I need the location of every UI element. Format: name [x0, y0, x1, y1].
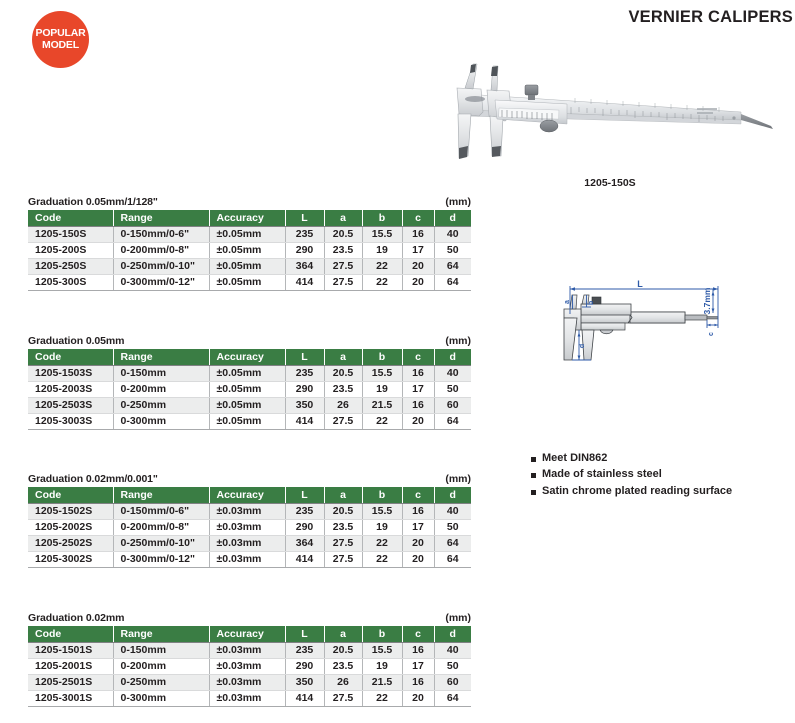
cell-l: 414 [285, 274, 324, 290]
cell-d: 40 [434, 226, 471, 242]
cell-code: 1205-2502S [28, 535, 113, 551]
cell-b: 19 [362, 519, 402, 535]
feature-text: Made of stainless steel [542, 468, 662, 482]
cell-c: 20 [402, 413, 434, 429]
column-header-b: b [362, 487, 402, 503]
cell-accuracy: ±0.03mm [209, 690, 285, 706]
features-list: Meet DIN862 Made of stainless steel Sati… [531, 452, 786, 501]
cell-code: 1205-1502S [28, 503, 113, 519]
cell-b: 21.5 [362, 397, 402, 413]
cell-range: 0-150mm/0-6" [113, 503, 209, 519]
column-header-d: d [434, 349, 471, 365]
table-row: 1205-2503S 0-250mm ±0.05mm 350 26 21.5 1… [28, 397, 471, 413]
column-header-code: Code [28, 210, 113, 226]
cell-b: 22 [362, 258, 402, 274]
unit-label: (mm) [445, 196, 471, 208]
specification-table: Code Range Accuracy L a b c d 1205-150S … [28, 210, 471, 291]
table-row: 1205-3001S 0-300mm ±0.03mm 414 27.5 22 2… [28, 690, 471, 706]
cell-d: 64 [434, 690, 471, 706]
table-row: 1205-1503S 0-150mm ±0.05mm 235 20.5 15.5… [28, 365, 471, 381]
cell-a: 20.5 [324, 226, 362, 242]
column-header-l: L [285, 626, 324, 642]
column-header-a: a [324, 626, 362, 642]
table-header-row: Code Range Accuracy L a b c d [28, 487, 471, 503]
cell-a: 23.5 [324, 658, 362, 674]
column-header-accuracy: Accuracy [209, 487, 285, 503]
cell-a: 26 [324, 397, 362, 413]
cell-c: 16 [402, 674, 434, 690]
cell-b: 19 [362, 658, 402, 674]
spec-table-header-3: Graduation 0.02mm/0.001" (mm) [28, 473, 471, 485]
cell-l: 235 [285, 226, 324, 242]
column-header-accuracy: Accuracy [209, 210, 285, 226]
cell-code: 1205-2501S [28, 674, 113, 690]
column-header-c: c [402, 626, 434, 642]
cell-d: 50 [434, 242, 471, 258]
column-header-b: b [362, 210, 402, 226]
cell-d: 64 [434, 535, 471, 551]
list-item: Satin chrome plated reading surface [531, 485, 786, 499]
cell-a: 27.5 [324, 690, 362, 706]
cell-range: 0-300mm/0-12" [113, 274, 209, 290]
cell-accuracy: ±0.03mm [209, 551, 285, 567]
cell-b: 15.5 [362, 642, 402, 658]
list-item: Meet DIN862 [531, 452, 786, 466]
column-header-a: a [324, 487, 362, 503]
cell-a: 27.5 [324, 258, 362, 274]
specification-table: Code Range Accuracy L a b c d 1205-1502S… [28, 487, 471, 568]
cell-c: 20 [402, 258, 434, 274]
cell-d: 60 [434, 674, 471, 690]
cell-c: 20 [402, 535, 434, 551]
cell-range: 0-200mm [113, 381, 209, 397]
dimension-label-b: b [588, 301, 595, 305]
cell-l: 414 [285, 690, 324, 706]
cell-accuracy: ±0.05mm [209, 381, 285, 397]
table-row: 1205-3002S 0-300mm/0-12" ±0.03mm 414 27.… [28, 551, 471, 567]
table-row: 1205-1501S 0-150mm ±0.03mm 235 20.5 15.5… [28, 642, 471, 658]
badge-line-1: POPULAR [36, 28, 86, 39]
cell-a: 27.5 [324, 413, 362, 429]
cell-code: 1205-2001S [28, 658, 113, 674]
cell-d: 64 [434, 551, 471, 567]
cell-code: 1205-1501S [28, 642, 113, 658]
spec-table-block-2: Graduation 0.05mm (mm) Code Range Accura… [28, 335, 471, 430]
cell-c: 17 [402, 519, 434, 535]
graduation-title: Graduation 0.05mm/1/128" [28, 196, 158, 208]
cell-d: 64 [434, 258, 471, 274]
column-header-a: a [324, 210, 362, 226]
table-row: 1205-250S 0-250mm/0-10" ±0.05mm 364 27.5… [28, 258, 471, 274]
cell-b: 22 [362, 551, 402, 567]
column-header-c: c [402, 349, 434, 365]
dimension-label-a: a [564, 300, 571, 304]
cell-range: 0-200mm/0-8" [113, 519, 209, 535]
cell-accuracy: ±0.03mm [209, 535, 285, 551]
cell-d: 64 [434, 274, 471, 290]
feature-text: Satin chrome plated reading surface [542, 485, 732, 499]
unit-label: (mm) [445, 612, 471, 624]
vernier-caliper-photo-icon [435, 52, 785, 172]
cell-accuracy: ±0.03mm [209, 519, 285, 535]
list-item: Made of stainless steel [531, 468, 786, 482]
cell-range: 0-200mm/0-8" [113, 242, 209, 258]
cell-b: 15.5 [362, 226, 402, 242]
cell-c: 17 [402, 242, 434, 258]
spec-table-block-1: Graduation 0.05mm/1/128" (mm) Code Range… [28, 196, 471, 291]
cell-l: 350 [285, 674, 324, 690]
cell-c: 17 [402, 381, 434, 397]
cell-b: 22 [362, 690, 402, 706]
cell-code: 1205-2002S [28, 519, 113, 535]
cell-c: 16 [402, 365, 434, 381]
column-header-accuracy: Accuracy [209, 626, 285, 642]
cell-d: 40 [434, 503, 471, 519]
specification-table: Code Range Accuracy L a b c d 1205-1501S… [28, 626, 471, 707]
vernier-caliper-dimension-diagram-icon: L a b d 3.7mm c [522, 268, 788, 368]
cell-a: 23.5 [324, 519, 362, 535]
cell-a: 20.5 [324, 503, 362, 519]
cell-c: 16 [402, 503, 434, 519]
dimension-label-L: L [637, 279, 643, 289]
cell-a: 23.5 [324, 381, 362, 397]
cell-accuracy: ±0.05mm [209, 413, 285, 429]
cell-c: 16 [402, 397, 434, 413]
badge-line-2: MODEL [42, 40, 79, 51]
cell-b: 19 [362, 242, 402, 258]
dimension-label-c: c [708, 332, 715, 336]
table-row: 1205-3003S 0-300mm ±0.05mm 414 27.5 22 2… [28, 413, 471, 429]
cell-l: 290 [285, 519, 324, 535]
cell-accuracy: ±0.03mm [209, 674, 285, 690]
cell-d: 64 [434, 413, 471, 429]
column-header-d: d [434, 210, 471, 226]
column-header-b: b [362, 626, 402, 642]
table-row: 1205-200S 0-200mm/0-8" ±0.05mm 290 23.5 … [28, 242, 471, 258]
square-bullet-icon [531, 457, 536, 462]
column-header-code: Code [28, 349, 113, 365]
column-header-a: a [324, 349, 362, 365]
cell-a: 26 [324, 674, 362, 690]
cell-l: 235 [285, 503, 324, 519]
column-header-l: L [285, 349, 324, 365]
feature-text: Meet DIN862 [542, 452, 607, 466]
cell-d: 60 [434, 397, 471, 413]
table-row: 1205-2001S 0-200mm ±0.03mm 290 23.5 19 1… [28, 658, 471, 674]
column-header-b: b [362, 349, 402, 365]
column-header-range: Range [113, 210, 209, 226]
column-header-code: Code [28, 626, 113, 642]
column-header-l: L [285, 487, 324, 503]
cell-accuracy: ±0.05mm [209, 274, 285, 290]
cell-a: 27.5 [324, 535, 362, 551]
cell-range: 0-250mm/0-10" [113, 535, 209, 551]
column-header-accuracy: Accuracy [209, 349, 285, 365]
graduation-title: Graduation 0.02mm/0.001" [28, 473, 158, 485]
table-row: 1205-150S 0-150mm/0-6" ±0.05mm 235 20.5 … [28, 226, 471, 242]
cell-b: 22 [362, 274, 402, 290]
cell-accuracy: ±0.03mm [209, 503, 285, 519]
table-row: 1205-2502S 0-250mm/0-10" ±0.03mm 364 27.… [28, 535, 471, 551]
dimension-label-thickness: 3.7mm [702, 287, 712, 314]
cell-l: 290 [285, 242, 324, 258]
cell-l: 235 [285, 642, 324, 658]
cell-b: 15.5 [362, 503, 402, 519]
cell-accuracy: ±0.05mm [209, 242, 285, 258]
column-header-d: d [434, 626, 471, 642]
cell-range: 0-250mm [113, 674, 209, 690]
cell-c: 17 [402, 658, 434, 674]
dimension-drawing: L a b d 3.7mm c [522, 268, 788, 368]
column-header-code: Code [28, 487, 113, 503]
cell-accuracy: ±0.05mm [209, 397, 285, 413]
column-header-d: d [434, 487, 471, 503]
cell-c: 20 [402, 551, 434, 567]
cell-code: 1205-300S [28, 274, 113, 290]
cell-code: 1205-3002S [28, 551, 113, 567]
cell-code: 1205-1503S [28, 365, 113, 381]
cell-accuracy: ±0.03mm [209, 642, 285, 658]
cell-range: 0-150mm [113, 365, 209, 381]
table-row: 1205-1502S 0-150mm/0-6" ±0.03mm 235 20.5… [28, 503, 471, 519]
cell-code: 1205-2003S [28, 381, 113, 397]
table-header-row: Code Range Accuracy L a b c d [28, 626, 471, 642]
graduation-title: Graduation 0.05mm [28, 335, 124, 347]
cell-a: 20.5 [324, 365, 362, 381]
cell-c: 20 [402, 274, 434, 290]
column-header-c: c [402, 210, 434, 226]
cell-d: 50 [434, 519, 471, 535]
specification-table: Code Range Accuracy L a b c d 1205-1503S… [28, 349, 471, 430]
cell-range: 0-300mm [113, 413, 209, 429]
unit-label: (mm) [445, 473, 471, 485]
cell-code: 1205-200S [28, 242, 113, 258]
column-header-range: Range [113, 626, 209, 642]
column-header-l: L [285, 210, 324, 226]
dimension-label-d: d [579, 344, 586, 348]
cell-range: 0-150mm/0-6" [113, 226, 209, 242]
cell-l: 414 [285, 413, 324, 429]
cell-code: 1205-2503S [28, 397, 113, 413]
cell-c: 20 [402, 690, 434, 706]
cell-d: 50 [434, 381, 471, 397]
cell-l: 350 [285, 397, 324, 413]
spec-table-header-4: Graduation 0.02mm (mm) [28, 612, 471, 624]
cell-b: 22 [362, 413, 402, 429]
cell-a: 27.5 [324, 274, 362, 290]
cell-l: 235 [285, 365, 324, 381]
spec-table-header-2: Graduation 0.05mm (mm) [28, 335, 471, 347]
cell-code: 1205-3001S [28, 690, 113, 706]
cell-range: 0-200mm [113, 658, 209, 674]
square-bullet-icon [531, 490, 536, 495]
graduation-title: Graduation 0.02mm [28, 612, 124, 624]
column-header-range: Range [113, 487, 209, 503]
cell-range: 0-150mm [113, 642, 209, 658]
cell-c: 16 [402, 226, 434, 242]
cell-code: 1205-250S [28, 258, 113, 274]
page-title: VERNIER CALIPERS [0, 8, 795, 27]
cell-d: 40 [434, 642, 471, 658]
table-row: 1205-2501S 0-250mm ±0.03mm 350 26 21.5 1… [28, 674, 471, 690]
cell-accuracy: ±0.05mm [209, 258, 285, 274]
column-header-range: Range [113, 349, 209, 365]
cell-b: 21.5 [362, 674, 402, 690]
cell-l: 290 [285, 658, 324, 674]
product-photo-caption: 1205-150S [435, 177, 785, 189]
cell-a: 27.5 [324, 551, 362, 567]
unit-label: (mm) [445, 335, 471, 347]
table-row: 1205-2003S 0-200mm ±0.05mm 290 23.5 19 1… [28, 381, 471, 397]
cell-accuracy: ±0.03mm [209, 658, 285, 674]
cell-accuracy: ±0.05mm [209, 365, 285, 381]
cell-b: 22 [362, 535, 402, 551]
column-header-c: c [402, 487, 434, 503]
cell-l: 364 [285, 258, 324, 274]
cell-l: 290 [285, 381, 324, 397]
cell-a: 20.5 [324, 642, 362, 658]
table-header-row: Code Range Accuracy L a b c d [28, 210, 471, 226]
spec-table-header-1: Graduation 0.05mm/1/128" (mm) [28, 196, 471, 208]
spec-table-block-4: Graduation 0.02mm (mm) Code Range Accura… [28, 612, 471, 707]
cell-accuracy: ±0.05mm [209, 226, 285, 242]
cell-range: 0-250mm/0-10" [113, 258, 209, 274]
cell-b: 19 [362, 381, 402, 397]
spec-table-block-3: Graduation 0.02mm/0.001" (mm) Code Range… [28, 473, 471, 568]
cell-d: 40 [434, 365, 471, 381]
table-row: 1205-2002S 0-200mm/0-8" ±0.03mm 290 23.5… [28, 519, 471, 535]
square-bullet-icon [531, 473, 536, 478]
cell-range: 0-250mm [113, 397, 209, 413]
cell-code: 1205-150S [28, 226, 113, 242]
product-photo [435, 52, 785, 172]
cell-c: 16 [402, 642, 434, 658]
cell-b: 15.5 [362, 365, 402, 381]
cell-range: 0-300mm [113, 690, 209, 706]
table-row: 1205-300S 0-300mm/0-12" ±0.05mm 414 27.5… [28, 274, 471, 290]
cell-range: 0-300mm/0-12" [113, 551, 209, 567]
cell-code: 1205-3003S [28, 413, 113, 429]
table-header-row: Code Range Accuracy L a b c d [28, 349, 471, 365]
cell-a: 23.5 [324, 242, 362, 258]
cell-l: 364 [285, 535, 324, 551]
cell-d: 50 [434, 658, 471, 674]
cell-l: 414 [285, 551, 324, 567]
